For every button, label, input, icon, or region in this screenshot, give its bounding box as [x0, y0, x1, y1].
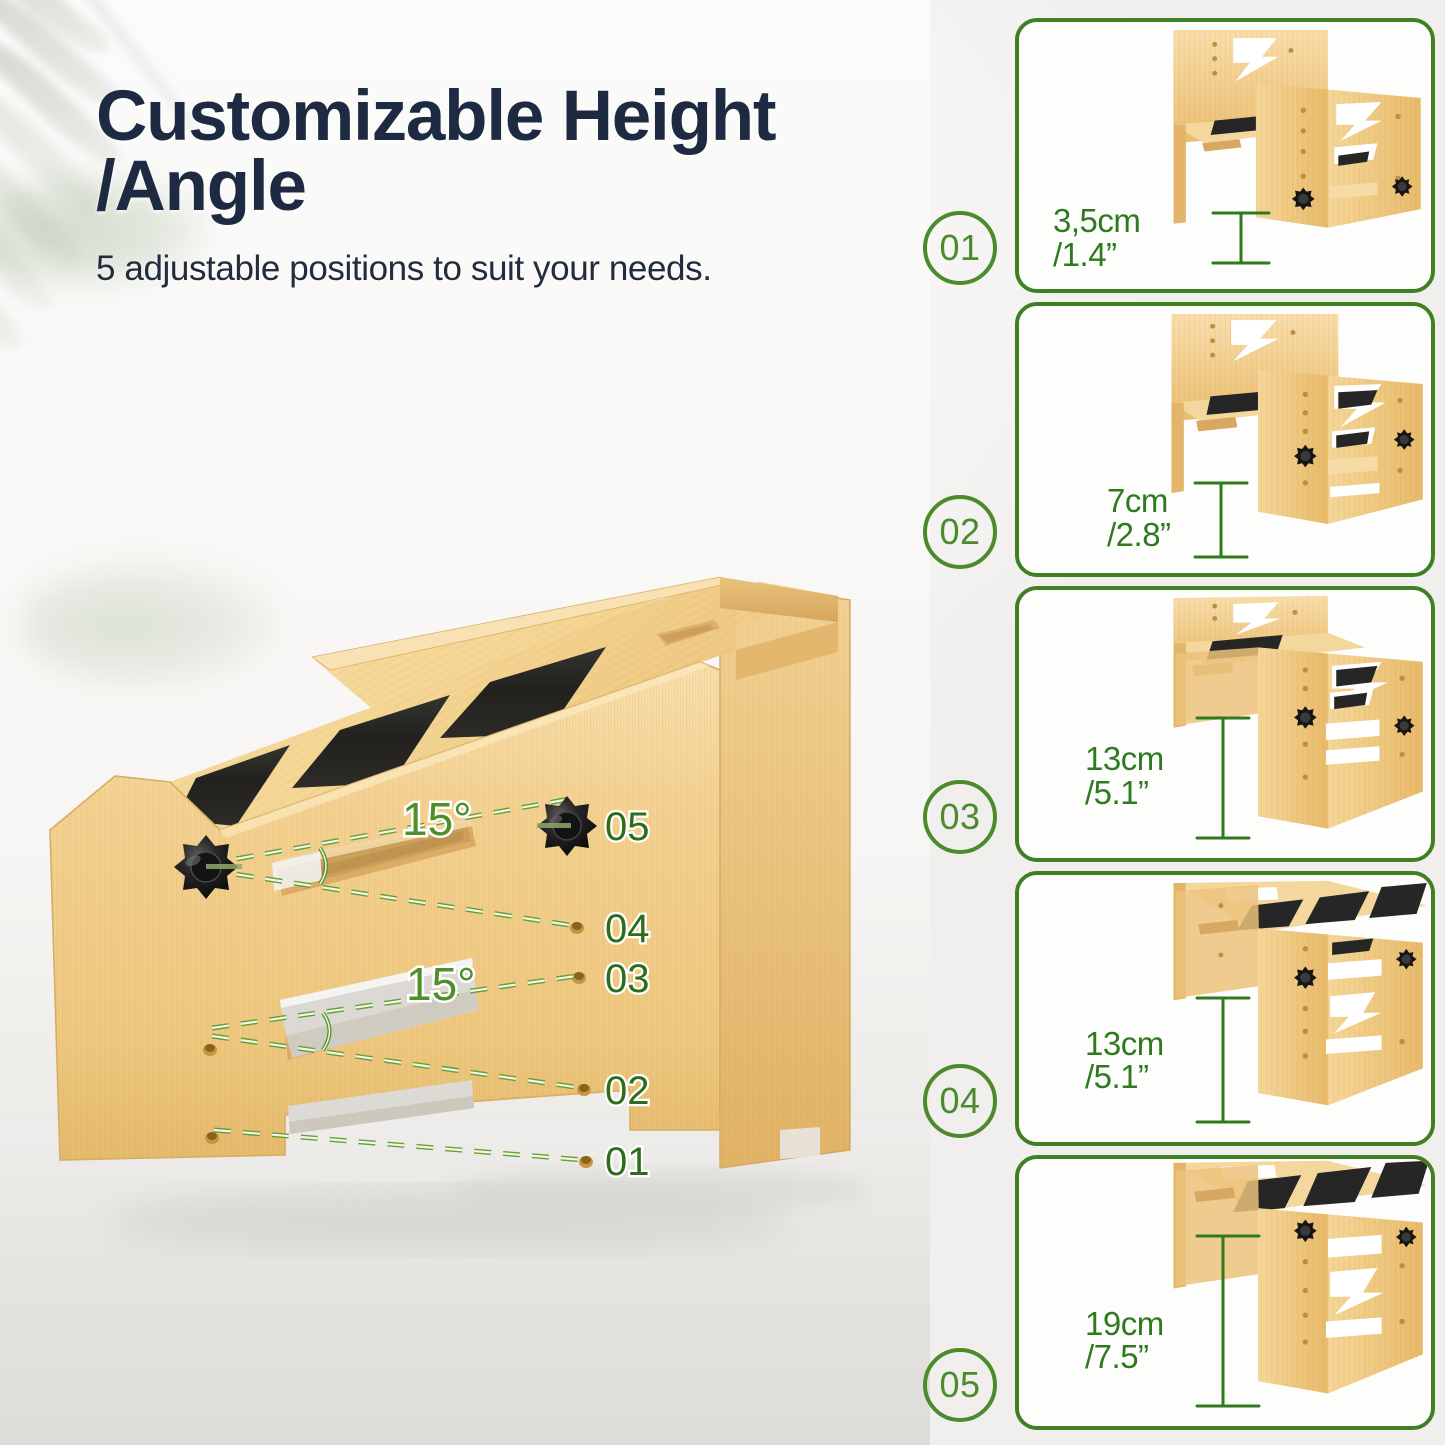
- measurement-cm-04: 13cm: [1085, 1025, 1164, 1062]
- measurement-cm-01: 3,5cm: [1053, 202, 1140, 239]
- page-title-line2: /Angle: [96, 152, 916, 222]
- angle-label-lower: 15°: [406, 958, 476, 1010]
- height-card-05[interactable]: 19cm /7.5”: [1015, 1155, 1435, 1430]
- header-block: Customizable Height /Angle 5 adjustable …: [96, 82, 916, 289]
- height-card-04[interactable]: 13cm /5.1”: [1015, 871, 1435, 1146]
- measurement-03: 13cm /5.1”: [1085, 742, 1164, 809]
- card-row-01: 01: [1015, 18, 1435, 293]
- measurement-04: 13cm /5.1”: [1085, 1027, 1164, 1094]
- measurement-in-03: /5.1”: [1085, 776, 1164, 810]
- hero-svg: 15° 15° 05 04 03 02 01: [20, 530, 920, 1260]
- position-label-01: 01: [605, 1140, 650, 1184]
- dimension-line-01: [1209, 207, 1273, 269]
- page-subtitle: 5 adjustable positions to suit your need…: [96, 249, 916, 289]
- page-title-line1: Customizable Height: [96, 77, 775, 156]
- measurement-in-01: /1.4”: [1053, 238, 1140, 272]
- measurement-01: 3,5cm /1.4”: [1053, 204, 1140, 271]
- adjustment-knob-upper[interactable]: [537, 796, 597, 856]
- dimension-line-02: [1191, 477, 1251, 563]
- hero-product-image: 15° 15° 05 04 03 02 01: [20, 530, 920, 1260]
- measurement-cm-05: 19cm: [1085, 1305, 1164, 1342]
- dimension-line-03: [1193, 712, 1253, 844]
- measurement-05: 19cm /7.5”: [1085, 1307, 1164, 1374]
- angle-label-upper: 15°: [402, 793, 472, 845]
- card-row-04: 04: [1015, 871, 1435, 1146]
- measurement-in-02: /2.8”: [1107, 518, 1171, 552]
- step-badge-01: 01: [923, 211, 997, 285]
- step-badge-03: 03: [923, 780, 997, 854]
- card-row-03: 03: [1015, 586, 1435, 861]
- dimension-line-05: [1193, 1230, 1263, 1412]
- height-card-01[interactable]: 3,5cm /1.4”: [1015, 18, 1435, 293]
- measurement-cm-03: 13cm: [1085, 740, 1164, 777]
- position-label-04: 04: [605, 907, 650, 951]
- height-position-card-list: 01: [1015, 18, 1435, 1430]
- page-title: Customizable Height /Angle: [96, 82, 916, 221]
- dimension-line-04: [1193, 992, 1253, 1128]
- card-row-05: 05 19cm: [1015, 1155, 1435, 1430]
- card-row-02: 02 7: [1015, 302, 1435, 577]
- height-card-03[interactable]: 13cm /5.1”: [1015, 586, 1435, 861]
- step-badge-04: 04: [923, 1064, 997, 1138]
- measurement-02: 7cm /2.8”: [1107, 484, 1171, 551]
- measurement-in-05: /7.5”: [1085, 1340, 1164, 1374]
- position-label-05: 05: [605, 805, 650, 849]
- position-label-03: 03: [605, 957, 650, 1001]
- step-badge-05: 05: [923, 1348, 997, 1422]
- measurement-cm-02: 7cm: [1107, 482, 1168, 519]
- height-card-02[interactable]: 7cm /2.8”: [1015, 302, 1435, 577]
- step-badge-02: 02: [923, 495, 997, 569]
- measurement-in-04: /5.1”: [1085, 1060, 1164, 1094]
